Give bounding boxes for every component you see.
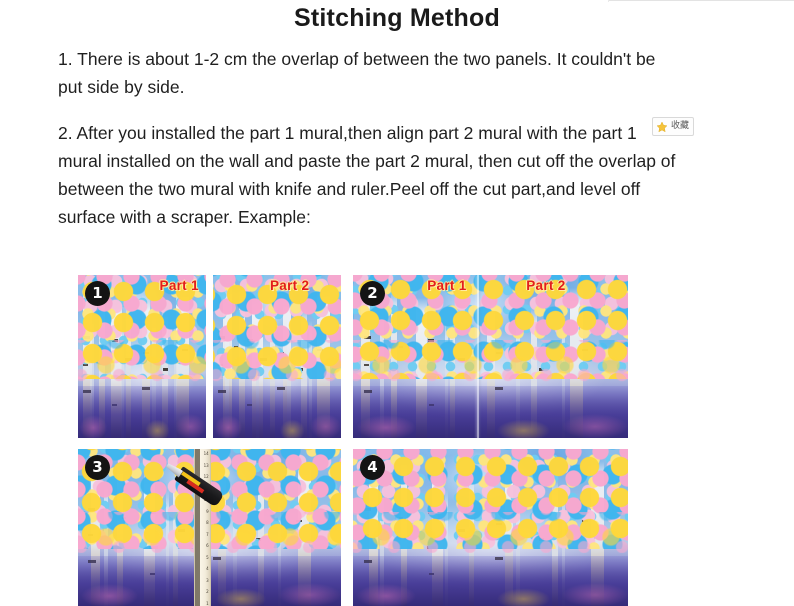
ruler-number: 6 <box>206 543 209 548</box>
artwork-lower-dots <box>78 340 206 382</box>
instructions-body: 1. There is about 1-2 cm the overlap of … <box>58 45 678 231</box>
ruler-number: 2 <box>206 589 209 594</box>
ruler-number: 7 <box>206 532 209 537</box>
example-panel-1[interactable]: 1 Part 1 Part 2 <box>78 275 341 438</box>
instruction-paragraph-2: 2. After you installed the part 1 mural,… <box>58 119 678 231</box>
example-panel-3[interactable]: 14 13 12 11 10 9 8 7 6 5 4 3 2 1 3 <box>78 449 341 606</box>
artwork-lower-dots <box>353 340 628 382</box>
mural-gap <box>206 275 213 438</box>
ruler-number: 14 <box>204 451 209 456</box>
part-2-label: Part 2 <box>526 278 565 293</box>
ruler-number: 1 <box>206 601 209 606</box>
page-title: Stitching Method <box>0 4 794 33</box>
ruler-numbers: 14 13 12 11 10 9 8 7 6 5 4 3 2 1 <box>201 451 209 606</box>
panel-top-border <box>608 0 794 1</box>
artwork-ground <box>78 386 206 438</box>
ruler-number: 4 <box>206 566 209 571</box>
ruler-number: 9 <box>206 509 209 514</box>
artwork-ground <box>353 556 628 606</box>
split-mural-1 <box>78 275 341 438</box>
example-panel-4[interactable]: 4 <box>353 449 628 606</box>
example-image-grid: 1 Part 1 Part 2 2 Part 1 Part 2 14 13 <box>78 275 628 605</box>
instruction-paragraph-1: 1. There is about 1-2 cm the overlap of … <box>58 45 678 101</box>
part-2-label: Part 2 <box>270 278 309 293</box>
artwork-ground <box>353 386 628 438</box>
artwork-lower-dots <box>213 340 341 382</box>
ruler-number: 12 <box>204 474 209 479</box>
artwork-lower-dots <box>353 512 628 553</box>
example-panel-2[interactable]: 2 Part 1 Part 2 <box>353 275 628 438</box>
ruler-number: 8 <box>206 520 209 525</box>
ruler-number: 5 <box>206 555 209 560</box>
star-icon <box>656 121 668 133</box>
part-1-label: Part 1 <box>427 278 466 293</box>
mural-part-2 <box>213 275 341 438</box>
favorite-label: 收藏 <box>671 121 689 132</box>
ruler-number: 13 <box>204 463 209 468</box>
ruler: 14 13 12 11 10 9 8 7 6 5 4 3 2 1 <box>194 449 211 606</box>
artwork-ground <box>213 386 341 438</box>
panel-left-border <box>608 0 609 2</box>
step-badge: 3 <box>85 455 110 480</box>
step-badge: 4 <box>360 455 385 480</box>
ruler-number: 3 <box>206 578 209 583</box>
favorite-button[interactable]: 收藏 <box>652 117 694 136</box>
step-badge: 1 <box>85 281 110 306</box>
part-1-label: Part 1 <box>160 278 199 293</box>
mural-seam <box>477 275 479 438</box>
step-badge: 2 <box>360 281 385 306</box>
